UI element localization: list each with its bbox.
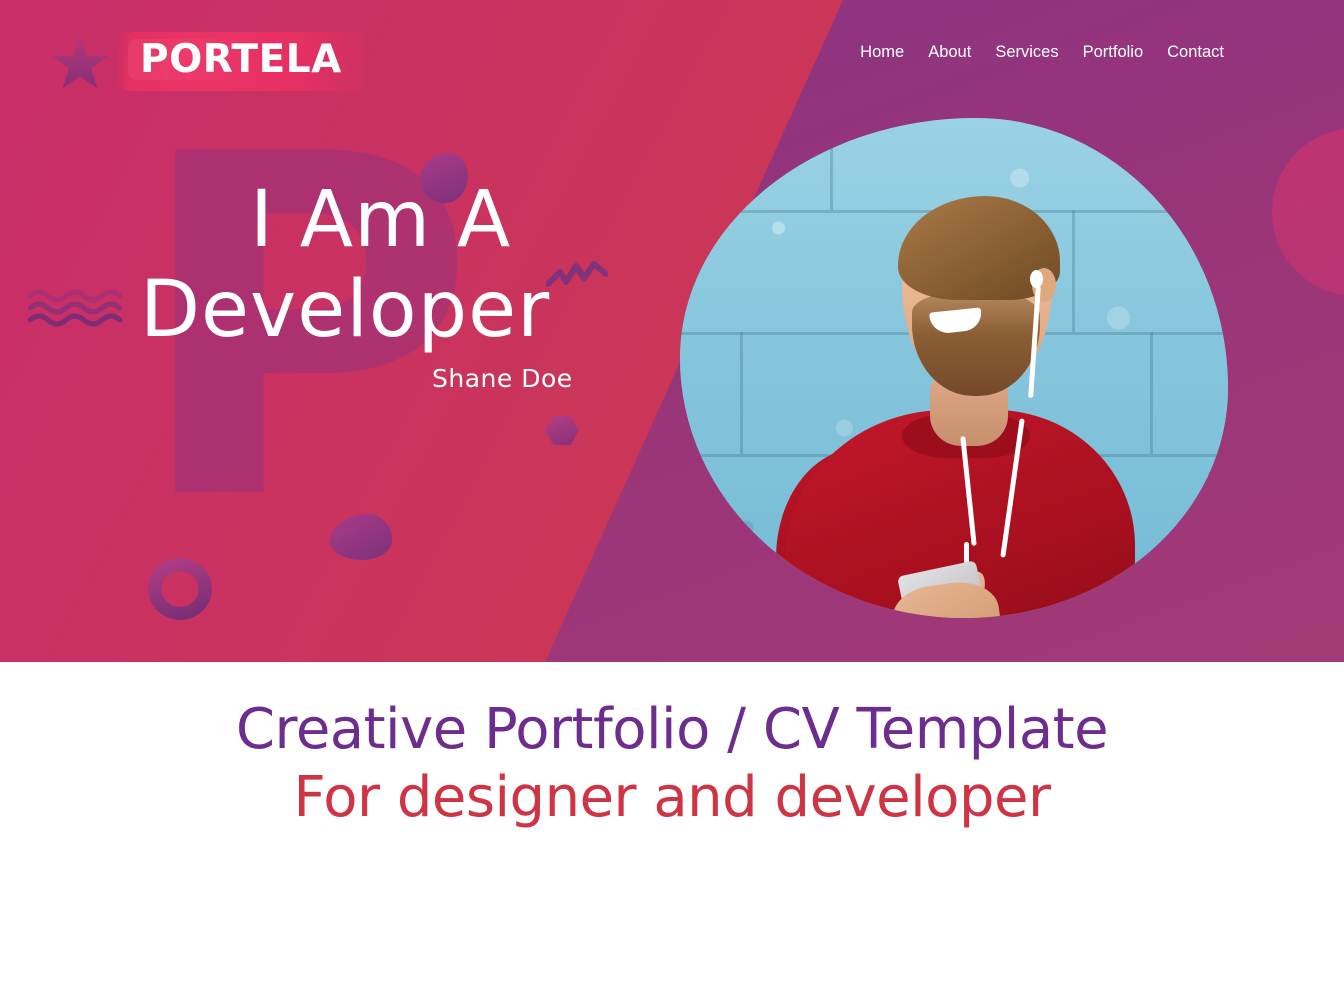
photo-person [680, 118, 1228, 618]
caption-title: Creative Portfolio / CV Template [236, 698, 1108, 762]
logo-text: PORTELA [140, 40, 342, 79]
nav-item-contact[interactable]: Contact [1167, 44, 1224, 61]
hero-headline-line1: I Am A [150, 180, 690, 262]
nav-item-about[interactable]: About [928, 44, 971, 61]
hero-copy: I Am A Developer Shane Doe [150, 180, 690, 393]
hero-author-name: Shane Doe [150, 364, 690, 393]
hero-section: P PORTELA Home About Services Portfolio … [0, 0, 1344, 662]
hero-headline-line2: Developer [140, 268, 690, 354]
caption-section: Creative Portfolio / CV Template For des… [0, 662, 1344, 1000]
nav-item-home[interactable]: Home [860, 44, 904, 61]
page-root: P PORTELA Home About Services Portfolio … [0, 0, 1344, 1000]
hero-portrait-photo [680, 118, 1228, 618]
caption-subtitle: For designer and developer [294, 766, 1051, 830]
main-navigation: Home About Services Portfolio Contact [860, 44, 1224, 61]
logo[interactable]: PORTELA [118, 32, 364, 91]
nav-item-services[interactable]: Services [995, 44, 1058, 61]
site-header: PORTELA Home About Services Portfolio Co… [0, 0, 1344, 110]
nav-item-portfolio[interactable]: Portfolio [1083, 44, 1144, 61]
